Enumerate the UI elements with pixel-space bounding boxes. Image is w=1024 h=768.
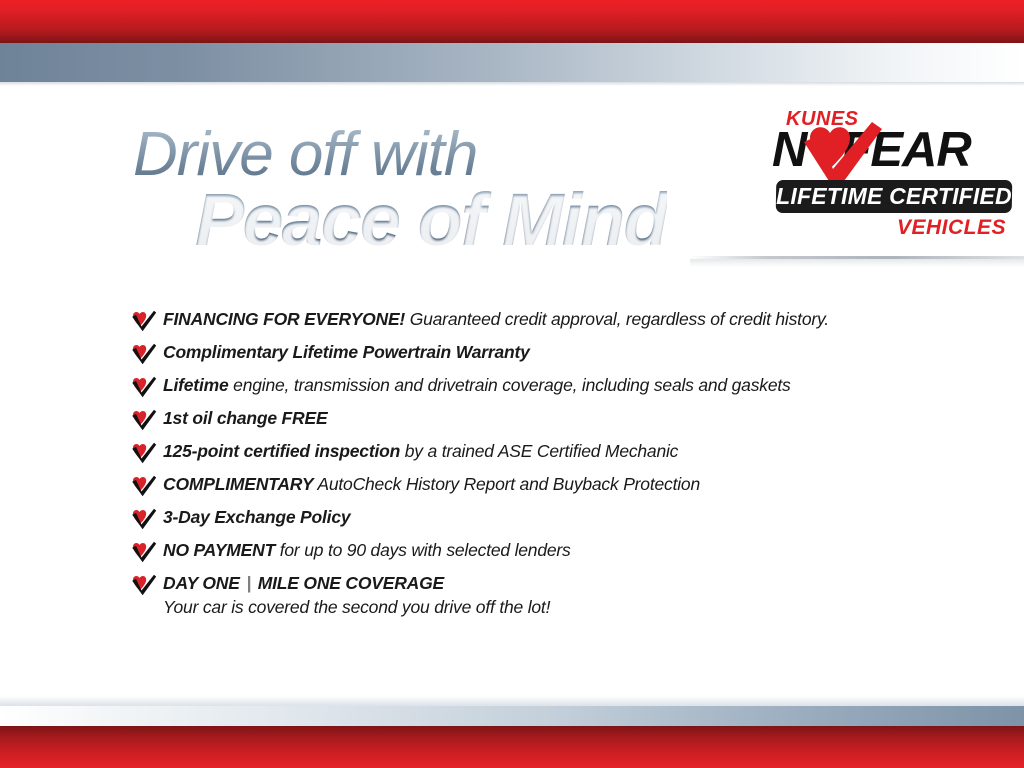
benefit-item: FINANCING FOR EVERYONE! Guaranteed credi… [131,308,921,332]
benefit-text-block: 125-point certified inspection by a trai… [163,440,678,462]
logo-lifetime-certified-text: LIFETIME CERTIFIED [776,180,1012,213]
benefit-description: engine, transmission and drivetrain cove… [229,375,791,395]
benefit-highlight: COMPLIMENTARY [163,474,313,494]
benefit-description: by a trained ASE Certified Mechanic [400,441,678,461]
benefit-text-block: FINANCING FOR EVERYONE! Guaranteed credi… [163,308,829,330]
bottom-gray-gradient-band [0,706,1024,726]
benefit-subline: Your car is covered the second you drive… [163,595,550,619]
benefit-item: Lifetime engine, transmission and drivet… [131,374,921,398]
benefit-text-block: COMPLIMENTARY AutoCheck History Report a… [163,473,700,495]
red-heart-check-icon [131,376,157,398]
poster-canvas: Drive off with Peace of Mind KUNES NFEAR… [0,0,1024,768]
benefit-text-block: 3-Day Exchange Policy [163,506,350,528]
logo-vehicles-text: VEHICLES [897,216,1006,240]
benefit-separator: | [240,573,258,593]
red-heart-check-icon [131,310,157,332]
headline-divider [690,256,1024,259]
benefit-item: Complimentary Lifetime Powertrain Warran… [131,341,921,365]
benefit-text-block: Lifetime engine, transmission and drivet… [163,374,791,396]
benefit-item: 3-Day Exchange Policy [131,506,921,530]
benefit-text-block: DAY ONE | MILE ONE COVERAGEYour car is c… [163,572,550,619]
benefit-primary-line: DAY ONE | MILE ONE COVERAGE [163,572,550,594]
benefit-description: AutoCheck History Report and Buyback Pro… [313,474,700,494]
benefit-primary-line: FINANCING FOR EVERYONE! Guaranteed credi… [163,308,829,330]
top-red-band [0,0,1024,43]
benefit-text-block: 1st oil change FREE [163,407,327,429]
benefit-highlight: NO PAYMENT [163,540,275,560]
benefit-item: 1st oil change FREE [131,407,921,431]
red-heart-check-icon [131,409,157,431]
benefit-item: DAY ONE | MILE ONE COVERAGEYour car is c… [131,572,921,619]
benefit-description: for up to 90 days with selected lenders [275,540,571,560]
red-heart-check-icon [131,574,157,596]
red-heart-check-icon [131,442,157,464]
bottom-red-band [0,726,1024,768]
benefit-highlight: FINANCING FOR EVERYONE! [163,309,405,329]
benefit-highlight: 3-Day Exchange Policy [163,507,350,527]
benefit-primary-line: 1st oil change FREE [163,407,327,429]
red-heart-check-icon [131,475,157,497]
benefit-primary-line: 3-Day Exchange Policy [163,506,350,528]
benefit-description: Guaranteed credit approval, regardless o… [405,309,829,329]
headline-line-2-text: Peace of Mind [195,178,667,261]
top-gray-gradient-band [0,43,1024,82]
benefit-primary-line: NO PAYMENT for up to 90 days with select… [163,539,571,561]
benefit-text-block: Complimentary Lifetime Powertrain Warran… [163,341,530,363]
benefit-item: COMPLIMENTARY AutoCheck History Report a… [131,473,921,497]
benefit-highlight: Complimentary Lifetime Powertrain Warran… [163,342,530,362]
logo-lifetime-certified-bar: LIFETIME CERTIFIED [776,180,1013,213]
red-heart-check-icon [131,541,157,563]
headline-block: Drive off with Peace of Mind [133,124,733,258]
benefit-primary-line: 125-point certified inspection by a trai… [163,440,678,462]
benefit-primary-line: COMPLIMENTARY AutoCheck History Report a… [163,473,700,495]
benefit-primary-line: Lifetime engine, transmission and drivet… [163,374,791,396]
benefit-item: NO PAYMENT for up to 90 days with select… [131,539,921,563]
benefit-highlight-secondary: MILE ONE COVERAGE [258,573,444,593]
benefit-highlight: 1st oil change FREE [163,408,327,428]
kunes-no-fear-logo: KUNES NFEAR LIFETIME CERTIFIED VEHICLES [772,108,1012,248]
headline-line-2: Peace of Mind [195,182,733,258]
benefit-item: 125-point certified inspection by a trai… [131,440,921,464]
benefit-highlight: Lifetime [163,375,229,395]
benefit-text-block: NO PAYMENT for up to 90 days with select… [163,539,571,561]
headline-line-1: Drive off with [133,124,733,186]
red-heart-check-icon [131,343,157,365]
red-heart-check-icon [131,508,157,530]
benefit-highlight: 125-point certified inspection [163,441,400,461]
benefits-list: FINANCING FOR EVERYONE! Guaranteed credi… [131,308,921,628]
benefit-highlight: DAY ONE [163,573,240,593]
benefit-primary-line: Complimentary Lifetime Powertrain Warran… [163,341,530,363]
